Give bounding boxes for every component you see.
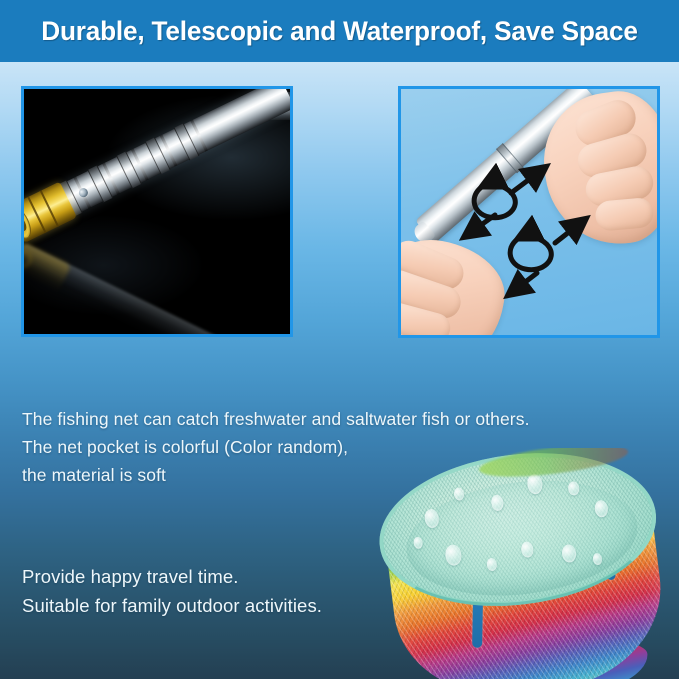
promo-text: Provide happy travel time. Suitable for … (22, 562, 322, 620)
product-photo-twist-demo (398, 86, 660, 338)
product-infographic: Durable, Telescopic and Waterproof, Save… (0, 0, 679, 679)
rotation-arrows-icon (459, 151, 609, 301)
description-line: The net pocket is colorful (Color random… (22, 433, 530, 461)
description-text: The fishing net can catch freshwater and… (22, 405, 530, 489)
product-photo-pole-closeup (21, 86, 293, 337)
promo-line: Provide happy travel time. (22, 562, 322, 591)
cap-thread-hole (21, 216, 28, 232)
description-line: the material is soft (22, 461, 530, 489)
reflection-cap (21, 241, 71, 293)
pole-reflection (21, 243, 293, 337)
reflection-cap-hole (21, 248, 34, 270)
description-line: The fishing net can catch freshwater and… (22, 405, 530, 433)
locking-screw (77, 187, 89, 199)
header-banner: Durable, Telescopic and Waterproof, Save… (0, 0, 679, 62)
cap-groove (40, 190, 59, 227)
hands-photo-scene (401, 89, 657, 335)
page-title: Durable, Telescopic and Waterproof, Save… (41, 16, 638, 47)
telescopic-pole (21, 86, 293, 239)
promo-line: Suitable for family outdoor activities. (22, 591, 322, 620)
pole-photo-scene (24, 89, 290, 334)
